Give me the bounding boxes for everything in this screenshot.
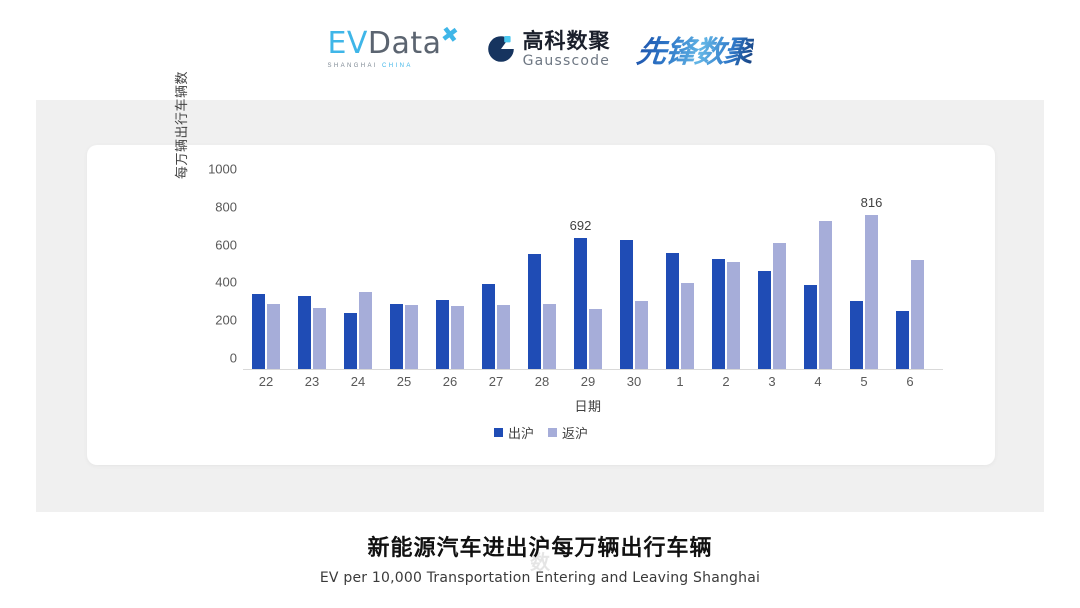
bar-out (712, 259, 725, 369)
caption-title: 新能源汽车进出沪每万辆出行车辆 (0, 530, 1080, 562)
caption-block: 新能源汽车进出沪每万辆出行车辆 数 EV per 10,000 Transpor… (0, 530, 1080, 586)
x-axis-tick-label: 24 (351, 374, 365, 389)
x-axis-tick-label: 5 (860, 374, 867, 389)
x-axis-ticks: 222324252627282930123456 (243, 374, 933, 394)
logo-gausscode: 高科数聚 Gausscode (486, 31, 611, 68)
logo-evdata: EVData ✖ SHANGHAI CHINA (327, 29, 459, 69)
bar-group (887, 180, 933, 369)
bar-back (589, 309, 602, 369)
bar-out (896, 311, 909, 369)
legend-label: 返沪 (562, 423, 588, 442)
bar-group (657, 180, 703, 369)
bar-out (804, 285, 817, 369)
evdata-wordmark: EVData ✖ (327, 29, 441, 59)
bar-back (819, 221, 832, 369)
y-axis-title: 每万辆出行车辆数 (171, 60, 190, 190)
bar-out (666, 253, 679, 369)
bar-out (850, 301, 863, 369)
bar-out (528, 254, 541, 369)
y-axis-ticks: 02004006008001000 (191, 169, 237, 369)
legend-swatch-icon (494, 428, 503, 437)
bar-back: 816 (865, 215, 878, 369)
bar-out (436, 300, 449, 369)
bar-group (611, 180, 657, 369)
bar-group (703, 180, 749, 369)
bar-group: 692 (565, 180, 611, 369)
evdata-tagline: SHANGHAI CHINA (327, 63, 412, 69)
bar-group (795, 180, 841, 369)
legend-swatch-icon (548, 428, 557, 437)
y-axis-tick-label: 1000 (208, 162, 237, 177)
bar-chart: 每万辆出行车辆数 02004006008001000 692816 222324… (87, 145, 995, 465)
gausscode-en: Gausscode (523, 54, 611, 68)
evdata-tagline-cn: CHINA (382, 63, 413, 69)
bar-out (390, 304, 403, 369)
logo-bar: EVData ✖ SHANGHAI CHINA 高科数聚 Gausscode 先… (0, 18, 1080, 80)
bar-back (543, 304, 556, 369)
y-axis-tick-label: 0 (230, 351, 237, 366)
bar-back (359, 292, 372, 369)
g-circle-icon (486, 34, 516, 64)
legend-item-out[interactable]: 出沪 (494, 423, 534, 442)
bar-out (758, 271, 771, 369)
legend-label: 出沪 (508, 423, 534, 442)
bar-back (267, 304, 280, 369)
bar-group (749, 180, 795, 369)
x-axis-tick-label: 4 (814, 374, 821, 389)
bar-out (482, 284, 495, 369)
bar-out (298, 296, 311, 369)
bar-group (335, 180, 381, 369)
bar-back (681, 283, 694, 369)
bar-out (252, 294, 265, 369)
x-axis-tick-label: 26 (443, 374, 457, 389)
y-axis-tick-label: 800 (215, 199, 237, 214)
bar-back (313, 308, 326, 369)
evdata-word-primary: EV (327, 26, 367, 61)
evdata-tagline-en: SHANGHAI (327, 63, 382, 69)
x-axis-tick-label: 1 (676, 374, 683, 389)
bar-back (727, 262, 740, 369)
chart-card: 每万辆出行车辆数 02004006008001000 692816 222324… (87, 145, 995, 465)
bar-group: 816 (841, 180, 887, 369)
bar-group (289, 180, 335, 369)
x-axis-tick-label: 6 (906, 374, 913, 389)
chart-legend: 出沪返沪 (87, 423, 995, 442)
caption-subtitle: EV per 10,000 Transportation Entering an… (0, 570, 1080, 586)
bar-back (911, 260, 924, 369)
bar-group (473, 180, 519, 369)
x-axis-tick-label: 25 (397, 374, 411, 389)
bar-back (497, 305, 510, 369)
y-axis-tick-label: 600 (215, 237, 237, 252)
x-axis-tick-label: 22 (259, 374, 273, 389)
bar-group (427, 180, 473, 369)
bar-value-label: 816 (861, 195, 883, 210)
logo-xianfeng-shuju: 先锋数聚 (634, 27, 755, 71)
x-axis-tick-label: 23 (305, 374, 319, 389)
x-star-icon: ✖ (440, 24, 461, 47)
x-axis-tick-label: 27 (489, 374, 503, 389)
gausscode-wordmark: 高科数聚 Gausscode (523, 31, 611, 68)
evdata-word-secondary: Data (368, 26, 442, 61)
gausscode-cn: 高科数聚 (523, 31, 611, 52)
bar-group (243, 180, 289, 369)
y-axis-tick-label: 400 (215, 275, 237, 290)
plot-area: 692816 (243, 180, 933, 369)
x-axis-tick-label: 29 (581, 374, 595, 389)
x-axis-tick-label: 2 (722, 374, 729, 389)
bar-out (620, 240, 633, 369)
x-axis-baseline (243, 369, 943, 370)
bar-out: 692 (574, 238, 587, 369)
x-axis-tick-label: 3 (768, 374, 775, 389)
bar-back (405, 305, 418, 369)
bar-out (344, 313, 357, 369)
bar-back (451, 306, 464, 369)
y-axis-tick-label: 200 (215, 313, 237, 328)
bar-group (519, 180, 565, 369)
bar-group (381, 180, 427, 369)
legend-item-back[interactable]: 返沪 (548, 423, 588, 442)
x-axis-tick-label: 30 (627, 374, 641, 389)
x-axis-tick-label: 28 (535, 374, 549, 389)
bar-value-label: 692 (570, 218, 592, 233)
x-axis-title: 日期 (243, 396, 933, 415)
bar-back (773, 243, 786, 369)
bar-back (635, 301, 648, 369)
